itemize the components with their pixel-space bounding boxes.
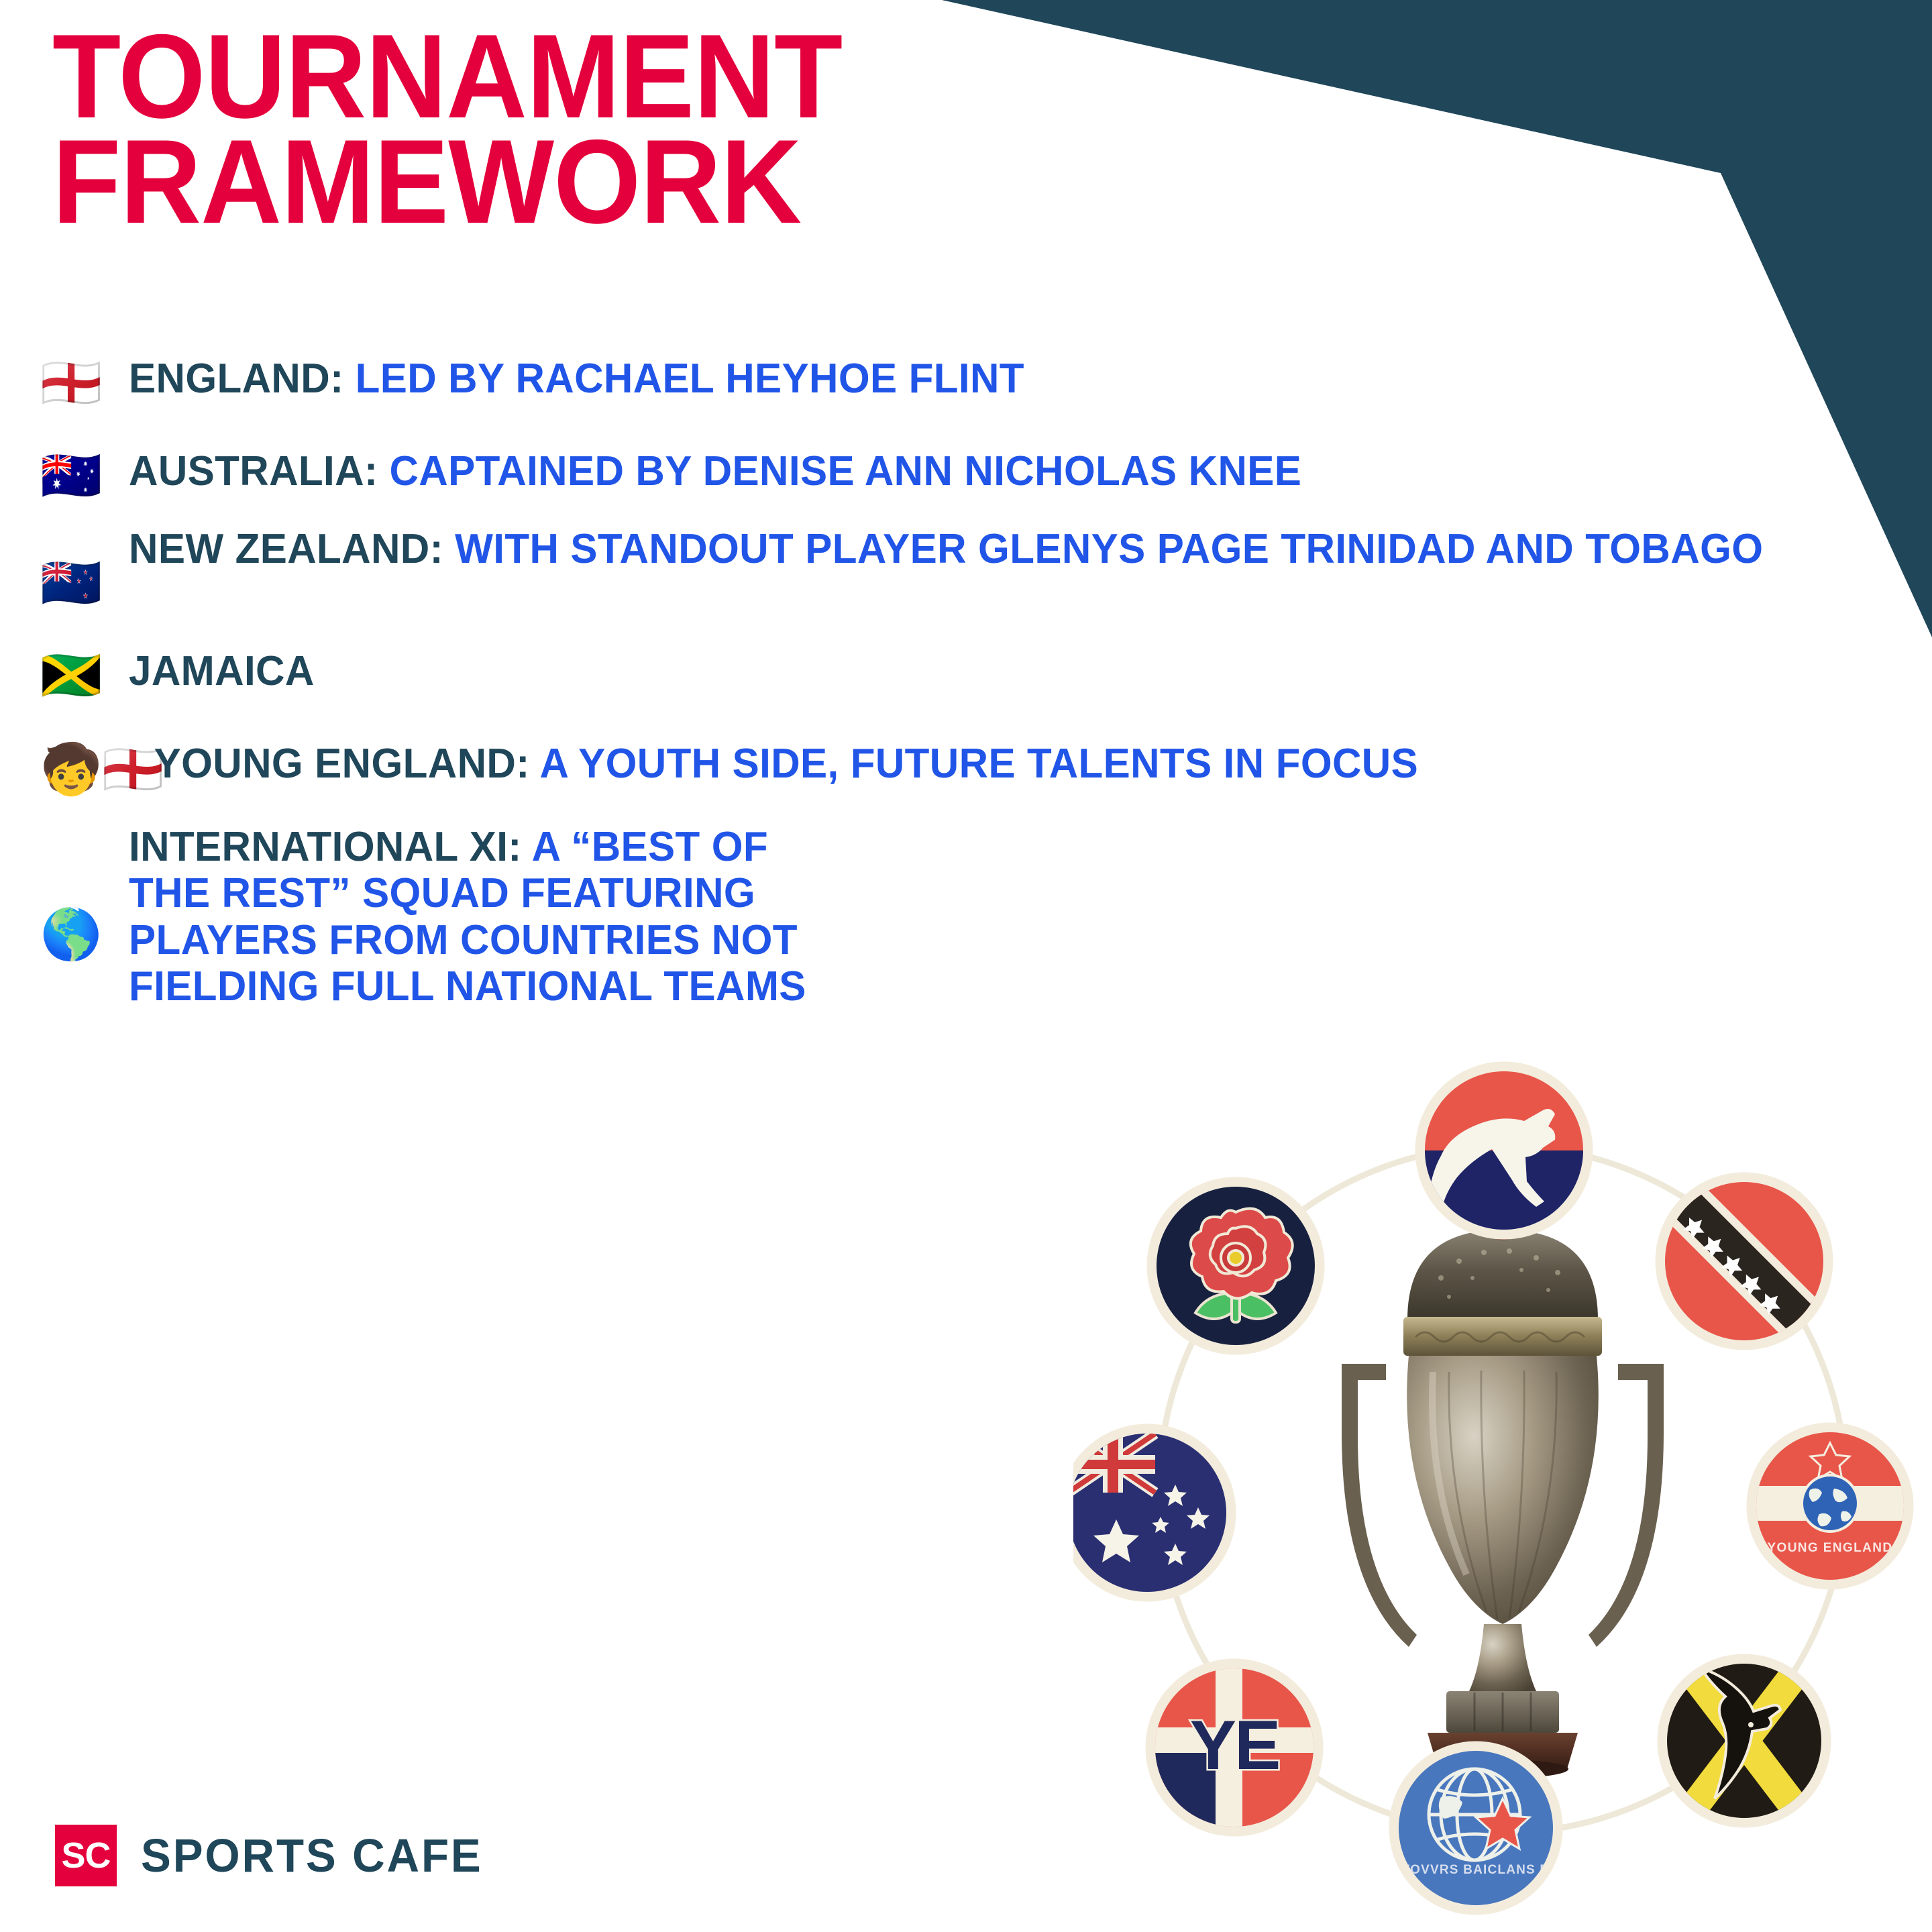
child-and-england-flag-emoji: 🧒🏴󠁧󠁢󠁥󠁮󠁧󠁿 — [40, 741, 145, 794]
list-item-label: NEW ZEALAND: — [129, 526, 455, 572]
jamaica-flag-emoji: 🇯🇲 — [40, 648, 129, 700]
list-item: 🇳🇿 NEW ZEALAND: WITH STANDOUT PLAYER GLE… — [40, 526, 1851, 608]
title-line-2: FRAMEWORK — [52, 129, 1036, 235]
badge-ring-graphic: YOUNG ENGLAND — [1073, 1057, 1932, 1922]
sc-logo-mark: SC — [55, 1825, 117, 1886]
young-england-badge: YOUNG ENGLAND — [1751, 1427, 1909, 1585]
list-item-text: YOUNG ENGLAND: A YOUTH SIDE, FUTURE TALE… — [145, 741, 1801, 787]
framework-list: 🏴󠁧󠁢󠁥󠁮󠁧󠁿 ENGLAND: LED BY RACHAEL HEYHOE F… — [40, 356, 1851, 1036]
list-item-label: INTERNATIONAL XI: — [129, 824, 532, 870]
list-item-desc: A YOUTH SIDE, FUTURE TALENTS IN FOCUS — [540, 741, 1419, 787]
list-item-text: NEW ZEALAND: WITH STANDOUT PLAYER GLENYS… — [129, 526, 1800, 572]
list-item: 🏴󠁧󠁢󠁥󠁮󠁧󠁿 ENGLAND: LED BY RACHAEL HEYHOE F… — [40, 356, 1851, 408]
list-item-text: ENGLAND: LED BY RACHAEL HEYHOE FLINT — [129, 356, 1800, 402]
list-item-text: AUSTRALIA: CAPTAINED BY DENISE ANN NICHO… — [129, 448, 1800, 494]
australia-flag-emoji: 🇦🇺 — [40, 448, 129, 500]
list-item: 🌎 INTERNATIONAL XI: A “BEST OF THE REST”… — [40, 824, 1851, 1010]
list-item: 🧒🏴󠁧󠁢󠁥󠁮󠁧󠁿 YOUNG ENGLAND: A YOUTH SIDE, FU… — [40, 741, 1851, 794]
trinidad-tobago-badge — [1660, 1177, 1829, 1346]
jamaica-doctorbird-badge — [1662, 1658, 1827, 1823]
page-title: TOURNAMENT FRAMEWORK — [52, 24, 1099, 234]
young-england-ye-badge: YE — [1150, 1663, 1319, 1832]
list-item-label: AUSTRALIA: — [129, 448, 389, 494]
young-england-badge-caption: YOUNG ENGLAND — [1767, 1541, 1892, 1555]
ye-badge-caption: YE — [1190, 1707, 1279, 1784]
list-item-desc: CAPTAINED BY DENISE ANN NICHOLAS KNEE — [389, 448, 1301, 494]
badge-ring-svg: YOUNG ENGLAND — [1073, 1057, 1932, 1922]
list-item: 🇦🇺 AUSTRALIA: CAPTAINED BY DENISE ANN NI… — [40, 448, 1851, 500]
cricket-world-cup-trophy — [1342, 1230, 1664, 1778]
england-flag-emoji: 🏴󠁧󠁢󠁥󠁮󠁧󠁿 — [40, 356, 129, 408]
sports-cafe-logo[interactable]: SC SPORTS CAFE — [55, 1825, 497, 1886]
new-zealand-flag-emoji: 🇳🇿 — [40, 526, 129, 608]
list-item-label: YOUNG ENGLAND: — [154, 741, 540, 787]
australia-flag-badge — [1073, 1428, 1232, 1597]
list-item-text: INTERNATIONAL XI: A “BEST OF THE REST” S… — [129, 824, 818, 1010]
australia-kangaroo-badge — [1419, 1066, 1589, 1235]
title-line-1: TOURNAMENT — [52, 24, 1036, 129]
international-xi-badge-caption: ITOVVRS BAICLANS RI — [1397, 1863, 1554, 1877]
list-item-desc: WITH STANDOUT PLAYER GLENYS PAGE TRINIDA… — [455, 526, 1763, 572]
list-item-desc: LED BY RACHAEL HEYHOE FLINT — [356, 356, 1024, 402]
list-item-label: JAMAICA — [129, 648, 315, 694]
international-xi-badge: ITOVVRS BAICLANS RI — [1393, 1746, 1558, 1911]
list-item-text: JAMAICA — [129, 648, 1800, 694]
sports-cafe-wordmark: SPORTS CAFE — [141, 1829, 483, 1882]
globe-emoji: 🌎 — [40, 824, 129, 959]
england-rose-badge — [1151, 1181, 1320, 1350]
list-item: 🇯🇲 JAMAICA — [40, 648, 1851, 700]
list-item-label: ENGLAND: — [129, 356, 356, 402]
